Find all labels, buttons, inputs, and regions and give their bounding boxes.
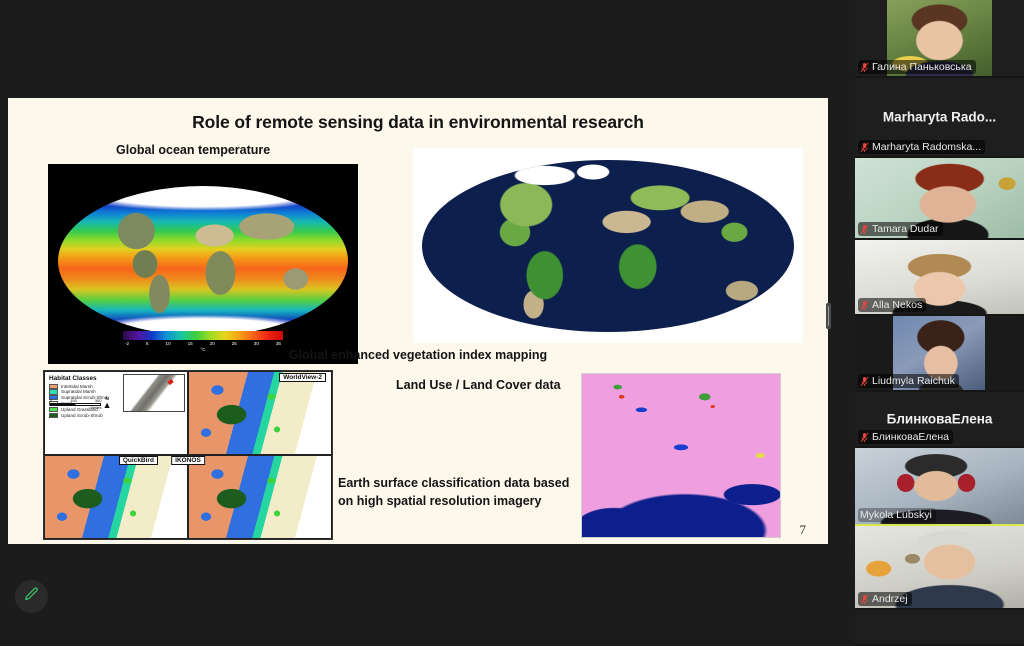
- participant-tile[interactable]: Галина Паньковська: [855, 0, 1024, 78]
- mosaic-quadrant-quickbird: [44, 455, 188, 539]
- panel-resize-handle[interactable]: [826, 303, 831, 329]
- participant-video-rail[interactable]: Галина Паньковська Marharyta Rado... Mar…: [855, 0, 1024, 646]
- mosaic-quadrant-legend: Habitat Classes Intertidal Marsh Suprati…: [44, 371, 188, 455]
- participant-name: Mykola Lubskyi: [860, 509, 932, 521]
- participant-name-badge: Marharyta Radomska...: [858, 140, 985, 154]
- legend-item: Upland Scrub-Shrub: [49, 413, 113, 418]
- participant-name: Tamara Dudar: [872, 223, 939, 235]
- north-arrow-icon: ▲: [103, 402, 112, 409]
- participant-tile[interactable]: Tamara Dudar: [855, 158, 1024, 240]
- land-cover-raster: [582, 374, 780, 537]
- participant-name: Marharyta Radomska...: [872, 141, 981, 153]
- sst-tick: 10: [166, 341, 171, 346]
- participant-tile-partial[interactable]: [855, 610, 1024, 646]
- scalebar-tick: 300: [95, 398, 102, 403]
- legend-swatch: [49, 413, 58, 418]
- mosaic-quadrant-worldview: [188, 371, 332, 455]
- vegetation-index-map: [413, 148, 803, 343]
- sensor-label-worldview: WorldView-2: [279, 373, 326, 382]
- mic-muted-icon: [860, 142, 869, 153]
- legend-item: Intertidal Marsh: [49, 384, 113, 389]
- sst-globe-graphic: [58, 186, 348, 336]
- sst-tick: 25: [232, 341, 237, 346]
- quickbird-classified-raster: [45, 456, 187, 538]
- habitat-classification-mosaic: Habitat Classes Intertidal Marsh Suprati…: [43, 370, 333, 540]
- sst-colorbar-gradient: [123, 331, 283, 340]
- slide-page-number: 7: [800, 522, 807, 538]
- sst-tick: 35: [276, 341, 281, 346]
- participant-name-badge: БлинковаЕлена: [858, 430, 953, 444]
- study-site-inset-photo: [123, 374, 185, 412]
- participant-name: Liudmyla Raichuk: [872, 375, 955, 387]
- participant-name: Alla Nekos: [872, 299, 922, 311]
- scalebar-unit: Meters: [50, 406, 101, 410]
- mic-muted-icon: [860, 300, 869, 311]
- site-marker-icon: [167, 379, 173, 385]
- sst-tick: 20: [210, 341, 215, 346]
- participant-tile[interactable]: Marharyta Rado... Marharyta Radomska...: [855, 78, 1024, 158]
- pen-icon: [23, 586, 40, 608]
- mic-muted-icon: [860, 224, 869, 235]
- sensor-label-ikonos: IKONOS: [171, 456, 205, 465]
- presentation-slide[interactable]: Role of remote sensing data in environme…: [8, 98, 828, 544]
- caption-surface-classification: Earth surface classification data based …: [338, 474, 573, 510]
- worldview-classified-raster: [189, 372, 331, 454]
- participant-video-off: [855, 610, 1024, 644]
- mic-muted-icon: [860, 432, 869, 443]
- participant-name-badge: Andrzej: [858, 592, 912, 606]
- legend-swatch: [49, 389, 58, 394]
- participant-name: Andrzej: [872, 593, 908, 605]
- mosaic-quadrant-ikonos: [188, 455, 332, 539]
- participant-tile[interactable]: БлинковаЕлена БлинковаЕлена: [855, 392, 1024, 448]
- legend-title: Habitat Classes: [49, 375, 113, 382]
- sst-tick: 15: [188, 341, 193, 346]
- sst-tick: -2: [125, 341, 129, 346]
- participant-tile-active-speaker[interactable]: Mykola Lubskyi: [855, 448, 1024, 526]
- mic-muted-icon: [860, 62, 869, 73]
- ikonos-classified-raster: [189, 456, 331, 538]
- zoom-meeting-window: Role of remote sensing data in environme…: [0, 0, 1024, 646]
- participant-initials: Marharyta Rado...: [855, 110, 1024, 125]
- participant-name-badge: Tamara Dudar: [858, 222, 943, 236]
- legend-label: Intertidal Marsh: [61, 384, 93, 389]
- scalebar-tick: 0: [50, 398, 52, 403]
- sea-surface-temperature-map: -2 5 10 15 20 25 30 35 °C: [48, 164, 358, 364]
- legend-swatch: [49, 384, 58, 389]
- sst-tick: 5: [146, 341, 149, 346]
- participant-tile[interactable]: Alla Nekos: [855, 240, 1024, 316]
- caption-ocean-temperature: Global ocean temperature: [116, 143, 270, 157]
- legend-label: Supratidal Marsh: [61, 389, 96, 394]
- mic-muted-icon: [860, 594, 869, 605]
- caption-vegetation-index: Global enhanced vegetation index mapping: [8, 348, 828, 362]
- caption-land-use-land-cover: Land Use / Land Cover data: [396, 378, 561, 392]
- participant-initials: БлинковаЕлена: [855, 412, 1024, 427]
- slide-title: Role of remote sensing data in environme…: [8, 112, 828, 133]
- mic-muted-icon: [860, 376, 869, 387]
- participant-name-badge: Mykola Lubskyi: [858, 508, 936, 522]
- participant-name: Галина Паньковська: [872, 61, 972, 73]
- land-cover-classification-map: [581, 373, 781, 538]
- north-arrow-indicator: N ▲: [103, 397, 112, 409]
- legend-item: Supratidal Marsh: [49, 389, 113, 394]
- legend-label: Upland Scrub-Shrub: [61, 413, 103, 418]
- map-scalebar: 0 150 300 Meters: [50, 398, 101, 410]
- sst-colorbar-ticks: -2 5 10 15 20 25 30 35: [123, 341, 283, 346]
- scalebar-tick: 150: [70, 398, 77, 403]
- participant-name: БлинковаЕлена: [872, 431, 949, 443]
- participant-tile[interactable]: Andrzej: [855, 526, 1024, 610]
- sst-tick: 30: [254, 341, 259, 346]
- participant-name-badge: Галина Паньковська: [858, 60, 976, 74]
- shared-screen-stage[interactable]: Role of remote sensing data in environme…: [0, 0, 855, 646]
- participant-name-badge: Alla Nekos: [858, 298, 926, 312]
- participant-tile[interactable]: Liudmyla Raichuk: [855, 316, 1024, 392]
- sensor-label-quickbird: QuickBird: [119, 456, 158, 465]
- participant-name-badge: Liudmyla Raichuk: [858, 374, 959, 388]
- evi-globe-graphic: [422, 160, 794, 332]
- habitat-classes-legend: Habitat Classes Intertidal Marsh Suprati…: [46, 373, 116, 413]
- annotate-button[interactable]: [15, 580, 48, 613]
